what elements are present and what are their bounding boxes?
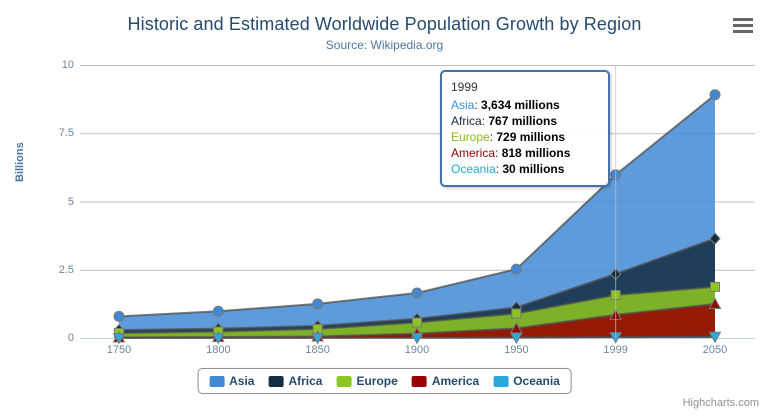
legend-item-africa[interactable]: Africa: [268, 374, 322, 388]
tooltip-series-name: Oceania: [451, 162, 496, 176]
marker-asia: [412, 288, 422, 298]
legend-swatch-icon: [493, 376, 508, 387]
chart-legend[interactable]: AsiaAfricaEuropeAmericaOceania: [197, 368, 572, 394]
y-axis-labels: 02.557.510: [22, 0, 74, 416]
tooltip-row: Asia: 3,634 millions: [451, 97, 599, 113]
tooltip-header: 1999: [451, 79, 599, 95]
tooltip-series-name: Africa: [451, 114, 482, 128]
x-axis-tick-label: 1800: [206, 344, 230, 356]
tooltip-row: Europe: 729 millions: [451, 129, 599, 145]
tooltip-series-name: Europe: [451, 130, 490, 144]
x-axis-tick-label: 1900: [405, 344, 429, 356]
legend-item-label: Europe: [356, 374, 397, 388]
y-axis-tick-label: 10: [26, 59, 74, 71]
tooltip-series-value: 818 millions: [502, 146, 571, 160]
legend-item-label: Asia: [229, 374, 254, 388]
marker-europe: [711, 282, 720, 291]
legend-item-label: Africa: [288, 374, 322, 388]
marker-asia: [313, 299, 323, 309]
legend-item-europe[interactable]: Europe: [336, 374, 397, 388]
legend-item-asia[interactable]: Asia: [209, 374, 254, 388]
y-axis-tick-label: 2.5: [26, 264, 74, 276]
x-axis-tick-label: 1750: [107, 344, 131, 356]
x-axis-tick-label: 1999: [603, 344, 627, 356]
tooltip-series-value: 30 millions: [502, 162, 564, 176]
x-axis-tick-label: 2050: [703, 344, 727, 356]
legend-swatch-icon: [268, 376, 283, 387]
tooltip-series-name: Asia: [451, 98, 474, 112]
highcharts-container: Historic and Estimated Worldwide Populat…: [0, 0, 769, 416]
tooltip-row: Oceania: 30 millions: [451, 161, 599, 177]
tooltip: 1999 Asia: 3,634 millionsAfrica: 767 mil…: [440, 70, 610, 187]
legend-item-oceania[interactable]: Oceania: [493, 374, 560, 388]
tooltip-rows: Asia: 3,634 millionsAfrica: 767 millions…: [451, 97, 599, 177]
y-axis-tick-label: 7.5: [26, 127, 74, 139]
tooltip-series-value: 3,634 millions: [481, 98, 560, 112]
legend-item-america[interactable]: America: [412, 374, 479, 388]
marker-asia: [511, 264, 521, 274]
y-axis-tick-label: 0: [26, 332, 74, 344]
legend-swatch-icon: [336, 376, 351, 387]
marker-europe: [413, 318, 422, 327]
x-axis-tick-label: 1850: [305, 344, 329, 356]
legend-item-label: Oceania: [513, 374, 560, 388]
credits-link[interactable]: Highcharts.com: [683, 397, 759, 409]
marker-asia: [114, 311, 124, 321]
tooltip-series-value: 767 millions: [488, 114, 557, 128]
marker-asia: [710, 90, 720, 100]
tooltip-series-value: 729 millions: [496, 130, 565, 144]
x-axis-tick-label: 1950: [504, 344, 528, 356]
tooltip-row: America: 818 millions: [451, 145, 599, 161]
plot-area: Billions 02.557.510 17501800185019001950…: [0, 0, 769, 416]
y-axis-tick-label: 5: [26, 196, 74, 208]
legend-item-label: America: [432, 374, 479, 388]
tooltip-row: Africa: 767 millions: [451, 113, 599, 129]
legend-swatch-icon: [209, 376, 224, 387]
legend-swatch-icon: [412, 376, 427, 387]
tooltip-series-name: America: [451, 146, 495, 160]
marker-europe: [512, 309, 521, 318]
tooltip-separator: :: [495, 146, 502, 160]
marker-asia: [213, 306, 223, 316]
tooltip-separator: :: [474, 98, 481, 112]
